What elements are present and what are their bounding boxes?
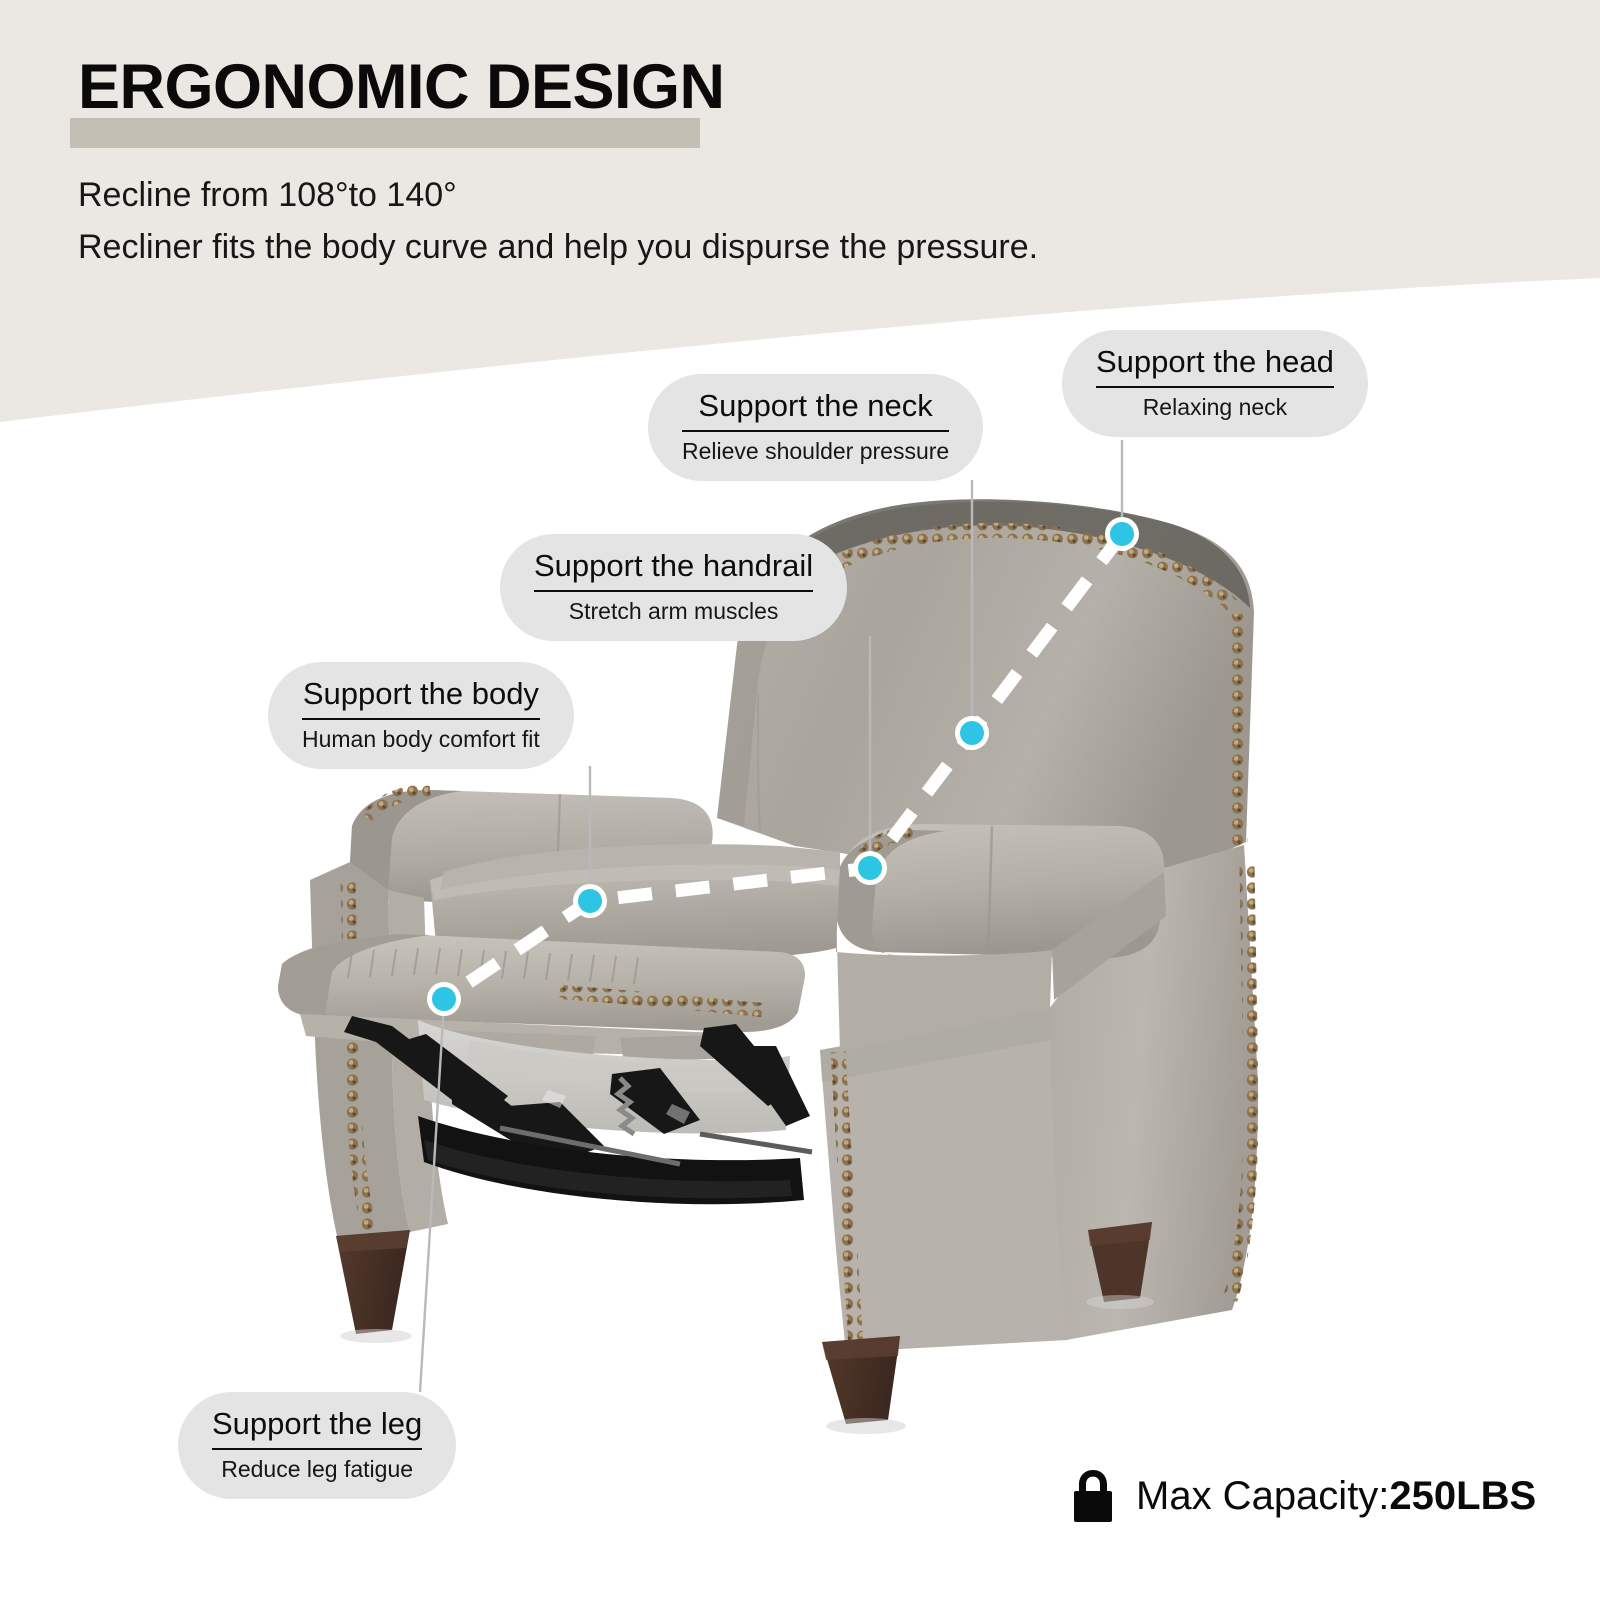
callout-handrail-title: Support the handrail	[534, 548, 813, 585]
callout-handrail-rule	[534, 590, 813, 592]
max-capacity-text: Max Capacity:250LBS	[1136, 1474, 1536, 1519]
callout-leg-rule	[212, 1448, 422, 1450]
max-capacity-label: Max Capacity:	[1136, 1474, 1389, 1518]
callout-head-title: Support the head	[1096, 344, 1334, 381]
callout-leg-subtitle: Reduce leg fatigue	[212, 1456, 422, 1484]
page-title-wrap: ERGONOMIC DESIGN	[78, 56, 725, 119]
callout-body[interactable]: Support the body Human body comfort fit	[268, 662, 574, 769]
callout-body-subtitle: Human body comfort fit	[302, 726, 540, 754]
callout-leg-title: Support the leg	[212, 1406, 422, 1443]
callout-handrail-subtitle: Stretch arm muscles	[534, 598, 813, 626]
callout-neck-title: Support the neck	[682, 388, 949, 425]
max-capacity-value: 250LBS	[1389, 1474, 1536, 1518]
callout-leg[interactable]: Support the leg Reduce leg fatigue	[178, 1392, 456, 1499]
callout-neck-rule	[682, 430, 949, 432]
header: ERGONOMIC DESIGN Recline from 108°to 140…	[0, 0, 1600, 300]
subtitle-recline-range: Recline from 108°to 140°	[78, 176, 457, 215]
callout-neck-subtitle: Relieve shoulder pressure	[682, 438, 949, 466]
max-capacity-badge: Max Capacity:250LBS	[1068, 1468, 1536, 1524]
callout-handrail[interactable]: Support the handrail Stretch arm muscles	[500, 534, 847, 641]
lock-icon	[1068, 1468, 1118, 1524]
callout-head-subtitle: Relaxing neck	[1096, 394, 1334, 422]
callout-head-rule	[1096, 386, 1334, 388]
page-title: ERGONOMIC DESIGN	[78, 56, 725, 119]
subtitle-description: Recliner fits the body curve and help yo…	[78, 228, 1038, 267]
callout-head[interactable]: Support the head Relaxing neck	[1062, 330, 1368, 437]
callout-body-title: Support the body	[302, 676, 540, 713]
title-highlight-bar	[70, 118, 700, 148]
callout-body-rule	[302, 718, 540, 720]
callout-neck[interactable]: Support the neck Relieve shoulder pressu…	[648, 374, 983, 481]
